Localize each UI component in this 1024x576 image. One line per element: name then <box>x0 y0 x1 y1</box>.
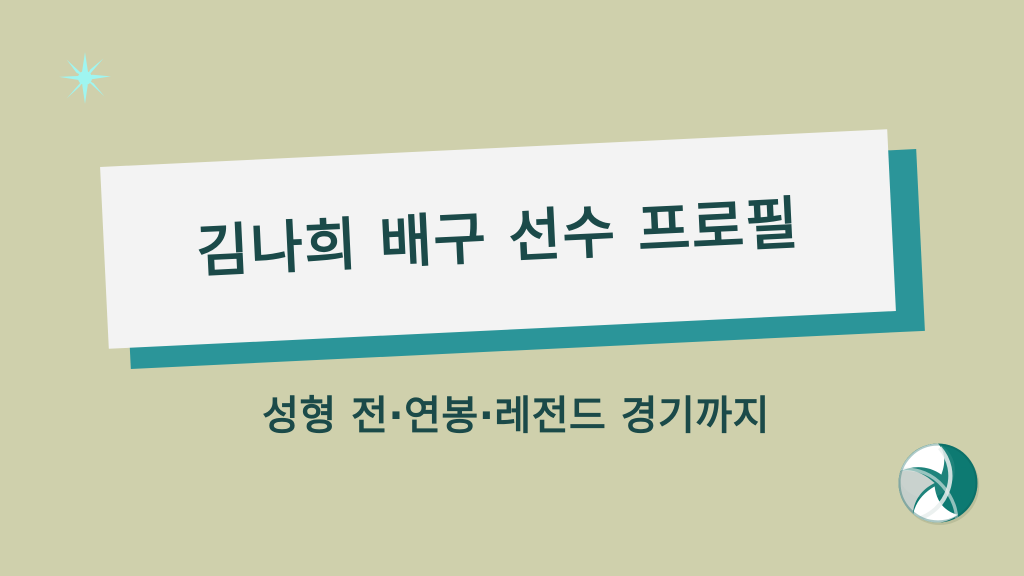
page-title: 김나희 배구 선수 프로필 <box>195 195 800 281</box>
banner-white-card: 김나희 배구 선수 프로필 <box>100 129 896 349</box>
volleyball-icon <box>896 441 980 525</box>
sparkle-star-icon <box>58 51 112 105</box>
title-banner: 김나희 배구 선수 프로필 <box>0 0 1024 576</box>
thumbnail-slide: 김나희 배구 선수 프로필 성형 전·연봉·레전드 경기까지 <box>0 0 1024 576</box>
subtitle-text: 성형 전·연봉·레전드 경기까지 <box>0 396 1024 436</box>
